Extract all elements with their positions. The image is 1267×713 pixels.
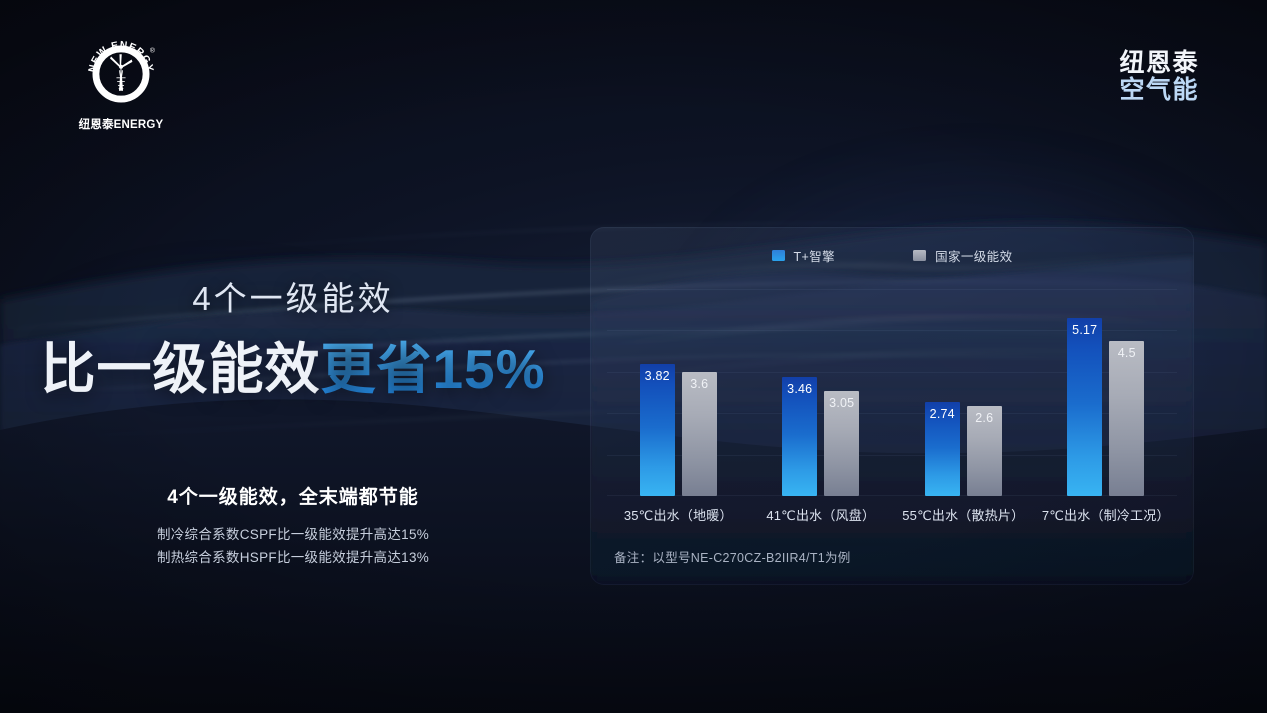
registered-mark-icon: ® [150,47,155,55]
chart-footnote: 备注：以型号NE-C270CZ-B2IIR4/T1为例 [614,547,851,566]
bar-2-0[interactable]: 2.74 [925,402,960,497]
bar-value-label-2-0: 2.74 [925,407,960,421]
legend-label-0: T+智擎 [794,246,836,265]
brand-right-line2: 空气能 [1119,77,1199,104]
body-line-1: 制冷综合系数CSPF比一级能效提升高达15% [0,523,586,546]
bar-group-1: 3.463.05 [750,377,893,496]
legend-label-1: 国家一级能效 [935,246,1012,265]
page-title: 比一级能效更省15% [0,324,586,404]
legend-swatch-blue-icon [772,250,785,261]
x-axis-label-1: 41℃出水（风盘） [750,505,893,524]
body-line-2: 制热综合系数HSPF比一级能效提升高达13% [0,546,586,569]
bar-group-3: 5.174.5 [1035,318,1178,496]
chart-bars: 3.823.63.463.052.742.65.174.5 [607,289,1177,496]
bar-value-label-1-0: 3.46 [782,382,817,396]
brand-wordmark-left: 纽恩泰ENERGY [68,116,174,132]
bar-3-1[interactable]: 4.5 [1109,341,1144,496]
chart-x-axis-labels: 35℃出水（地暖）41℃出水（风盘）55℃出水（散热片）7℃出水（制冷工况） [607,505,1177,524]
x-axis-label-3: 7℃出水（制冷工况） [1035,505,1178,524]
x-axis-label-0: 35℃出水（地暖） [607,505,750,524]
new-energy-emblem-icon: NEW ENERGY ® [83,36,159,112]
bar-1-1[interactable]: 3.05 [824,391,859,496]
bar-1-0[interactable]: 3.46 [782,377,817,496]
bar-value-label-3-1: 4.5 [1109,346,1144,360]
bar-value-label-1-1: 3.05 [824,396,859,410]
bar-3-0[interactable]: 5.17 [1067,318,1102,496]
kicker-text: 4个一级能效 [0,272,586,320]
bar-2-1[interactable]: 2.6 [967,406,1002,496]
brand-right-line1: 纽恩泰 [1119,50,1199,77]
bar-value-label-2-1: 2.6 [967,411,1002,425]
bar-0-1[interactable]: 3.6 [682,372,717,496]
headline-white-part: 比一级能效 [40,338,320,400]
brand-logo-left: NEW ENERGY ® 纽恩泰ENERGY [68,36,174,132]
legend-item-0[interactable]: T+智擎 [772,246,836,265]
headline-block: 4个一级能效 比一级能效更省15% 4个一级能效，全末端都节能 制冷综合系数CS… [0,272,586,569]
chart-legend: T+智擎 国家一级能效 [590,246,1194,265]
legend-swatch-gray-icon [913,250,926,261]
bar-value-label-0-0: 3.82 [640,369,675,383]
x-axis-label-2: 55℃出水（散热片） [892,505,1035,524]
bar-0-0[interactable]: 3.82 [640,364,675,496]
body-copy: 制冷综合系数CSPF比一级能效提升高达15% 制热综合系数HSPF比一级能效提升… [0,523,586,569]
wind-turbine-icon [110,54,132,90]
bar-group-2: 2.742.6 [892,402,1035,497]
headline-blue-part: 更省15% [320,338,545,400]
bar-group-0: 3.823.6 [607,364,750,496]
chart-panel: T+智擎 国家一级能效 3.823.63.463.052.742.65.174.… [590,227,1194,585]
bar-value-label-3-0: 5.17 [1067,323,1102,337]
legend-item-1[interactable]: 国家一级能效 [913,246,1012,265]
subhead-text: 4个一级能效，全末端都节能 [0,482,586,509]
brand-logo-right: 纽恩泰 空气能 [1119,50,1199,104]
bar-value-label-0-1: 3.6 [682,377,717,391]
